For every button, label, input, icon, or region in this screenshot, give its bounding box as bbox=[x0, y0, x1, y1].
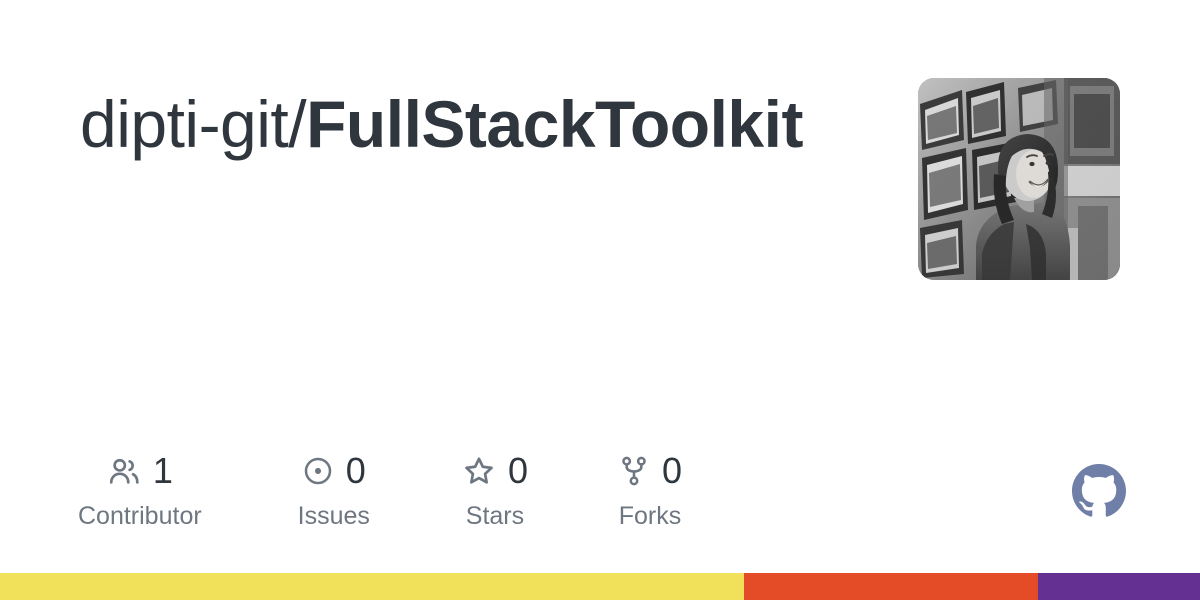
issue-opened-icon bbox=[302, 455, 334, 487]
repository-title-separator: / bbox=[288, 87, 306, 161]
stat-contributors-top: 1 bbox=[107, 450, 173, 492]
repository-owner: dipti-git bbox=[80, 87, 288, 161]
stat-stars-value: 0 bbox=[508, 453, 528, 489]
language-bar bbox=[0, 573, 1200, 600]
stat-forks-value: 0 bbox=[662, 453, 682, 489]
language-segment-css bbox=[1038, 573, 1200, 600]
repository-social-preview-card: dipti-git/FullStackToolkit bbox=[0, 0, 1200, 600]
stat-contributors: 1 Contributor bbox=[78, 450, 202, 529]
stat-forks-top: 0 bbox=[618, 450, 682, 492]
stat-contributors-label: Contributor bbox=[78, 504, 202, 529]
owner-avatar bbox=[918, 78, 1120, 280]
repository-title: dipti-git/FullStackToolkit bbox=[80, 88, 803, 161]
owner-avatar-photo bbox=[918, 78, 1120, 280]
language-segment-html bbox=[744, 573, 1038, 600]
language-segment-javascript bbox=[0, 573, 744, 600]
stat-issues-top: 0 bbox=[302, 450, 366, 492]
stat-stars-top: 0 bbox=[462, 450, 528, 492]
repository-name: FullStackToolkit bbox=[306, 87, 803, 161]
stat-stars-label: Stars bbox=[466, 504, 524, 529]
stat-issues-label: Issues bbox=[298, 504, 370, 529]
star-icon bbox=[462, 454, 496, 488]
stat-issues-value: 0 bbox=[346, 453, 366, 489]
fork-icon bbox=[618, 454, 650, 488]
stat-issues: 0 Issues bbox=[298, 450, 370, 529]
stat-stars: 0 Stars bbox=[462, 450, 528, 529]
stat-forks-label: Forks bbox=[619, 504, 682, 529]
stat-forks: 0 Forks bbox=[618, 450, 682, 529]
stat-contributors-value: 1 bbox=[153, 453, 173, 489]
repository-stats: 1 Contributor 0 Issues bbox=[78, 450, 682, 529]
people-icon bbox=[107, 454, 141, 488]
github-mark-icon bbox=[1072, 464, 1126, 518]
